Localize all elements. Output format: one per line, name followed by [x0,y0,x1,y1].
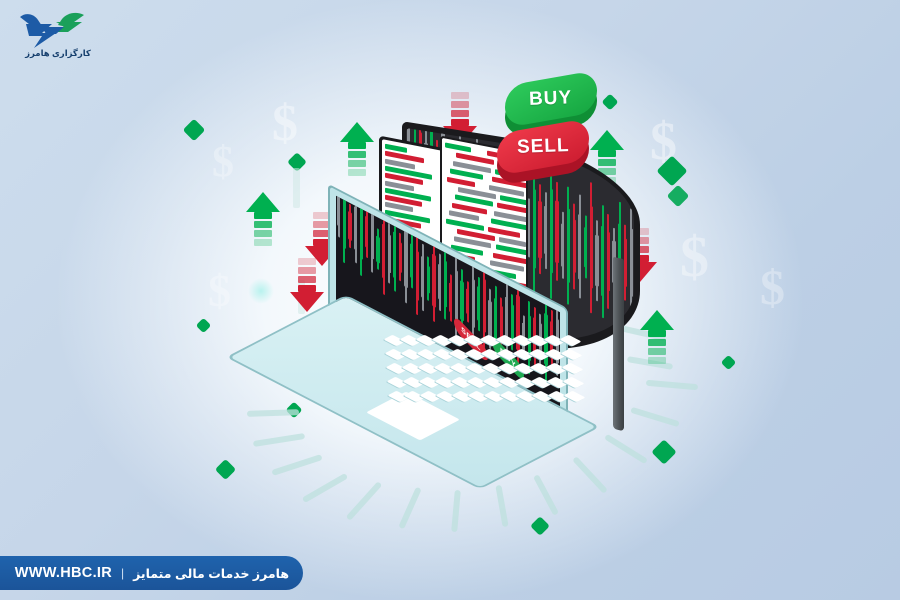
candle-body [404,231,407,288]
candle-body [472,279,475,328]
footer-tagline: هامرز خدمات مالی متمایز [133,566,289,581]
radiating-ray [646,380,698,391]
diamond-marker [602,94,619,111]
candle-body [388,234,391,273]
candle-body [421,256,424,299]
radiating-ray [398,487,421,530]
candle-body [500,305,503,336]
diamond-marker [667,185,690,208]
candle-body [365,216,368,249]
candle-body [393,232,396,279]
brand-logo-text: کارگزاری هامرز [20,48,96,59]
diamond-marker [183,119,206,142]
faint-accent-bar [293,168,300,208]
dollar-sign-icon: $ [760,262,785,312]
candle-body [438,264,441,301]
radiating-ray [533,474,559,516]
down-arrow-icon [290,258,324,312]
candle-body [444,260,447,307]
candle-body [460,280,463,321]
candle-body [432,254,435,307]
glow-dot [248,278,274,304]
dollar-sign-icon: $ [212,140,234,184]
candle-body [360,201,363,260]
order-book-row [445,142,471,152]
candle-body [410,243,413,278]
candle-body [494,298,497,343]
brand-logo: کارگزاری هامرز [12,8,104,64]
candle-body [343,199,346,250]
sell-button[interactable]: SELL [497,126,589,168]
diamond-marker [651,439,676,464]
diamond-marker [196,318,212,334]
candle-body [449,282,452,313]
buy-button-label: BUY [529,87,573,110]
up-arrow-icon [246,192,280,246]
candle-body [354,206,357,251]
sell-button-label: SELL [516,135,569,159]
radiating-ray [346,481,383,521]
dollar-sign-icon: $ [208,268,231,314]
footer-url[interactable]: WWW.HBC.IR [15,565,112,581]
candle-body [511,304,514,341]
diamond-marker [530,516,550,536]
candle-body [630,229,633,297]
candle-body [624,238,627,286]
laptop-key[interactable] [564,391,586,402]
radiating-ray [495,485,508,527]
candle-body [527,209,530,246]
footer-separator: | [121,566,124,580]
order-book-row [447,176,475,186]
candle-body [399,242,402,273]
candle-body [416,250,419,301]
candle-body [488,300,491,339]
candle-body [371,210,374,259]
candle-body [382,224,385,279]
candle-body [483,278,486,333]
laptop: SELL BUY [330,248,610,468]
footer-bar: هامرز خدمات مالی متمایز | WWW.HBC.IR [0,556,303,590]
monitor-stand-edge [613,257,624,432]
bull-logo-icon [12,8,104,52]
diamond-marker [721,355,737,371]
radiating-ray [302,473,348,503]
buy-button[interactable]: BUY [505,78,597,120]
illustration-canvas: $ $ $ $ $ $ [0,0,900,600]
dollar-sign-icon: $ [680,228,709,286]
candle-body [337,196,340,228]
candle-body [477,287,480,322]
diamond-marker [215,459,236,480]
candle-body [376,236,379,263]
up-arrow-icon [340,122,374,176]
radiating-ray [451,490,461,532]
candle-body [427,265,430,294]
radiating-ray [271,454,322,476]
candle-body [348,211,351,240]
radiating-ray [253,433,305,447]
dollar-sign-icon: $ [272,98,298,150]
candle-body [466,288,469,315]
